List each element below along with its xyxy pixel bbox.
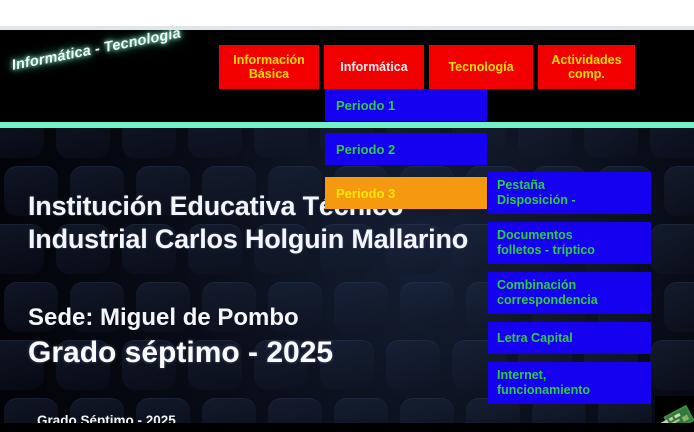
dropdown-item-periodo-2[interactable]: Periodo 2 (325, 133, 487, 165)
site-brand-logo: Informática - Tecnología (10, 30, 219, 74)
grade-footnote: Grado Séptimo - 2025 (37, 413, 176, 423)
dropdown-periodos: Periodo 1Periodo 2Periodo 3 (325, 89, 487, 221)
keyboard-key-shape (202, 398, 256, 423)
keyboard-key-shape (0, 128, 44, 158)
keyboard-key-shape (518, 128, 572, 158)
keyboard-key-shape (268, 398, 322, 423)
keyboard-key-shape (188, 128, 242, 158)
keyboard-key-shape (400, 398, 454, 423)
keyboard-key-shape (254, 128, 308, 158)
submenu-item-combinacion-correspondencia[interactable]: Combinación correspondencia (488, 272, 651, 314)
site-shell: Institución Educativa Técnico Industrial… (0, 30, 694, 432)
keyboard-key-shape (650, 224, 694, 274)
browser-top-strip (0, 0, 694, 26)
keyboard-key-shape (334, 398, 388, 423)
submenu-item-letra-capital[interactable]: Letra Capital (488, 322, 651, 354)
dropdown-item-periodo-3[interactable]: Periodo 3 (325, 177, 487, 209)
keyboard-key-shape (664, 282, 694, 332)
menu-item-actividades-comp[interactable]: Actividades comp. (538, 45, 635, 89)
submenu-item-documentos-folletos[interactable]: Documentos folletos - tríptico (488, 222, 651, 264)
keyboard-key-shape (56, 128, 110, 158)
page-root: Institución Educativa Técnico Industrial… (0, 0, 694, 432)
grade-title: Grado séptimo - 2025 (28, 335, 498, 371)
keyboard-key-shape (650, 340, 694, 390)
page-bottom-bar (0, 423, 694, 432)
dropdown-item-periodo-1[interactable]: Periodo 1 (325, 89, 487, 121)
keyboard-key-shape (122, 128, 176, 158)
menu-item-tecnologia[interactable]: Tecnología (429, 45, 533, 89)
circuit-board-photo-icon (655, 396, 694, 423)
keyboard-key-shape (650, 128, 694, 158)
menu-item-informatica[interactable]: Informática (324, 45, 424, 89)
keyboard-key-shape (584, 128, 638, 158)
menu-item-informacion-basica[interactable]: Información Básica (219, 45, 319, 89)
submenu-item-internet-funcionamiento[interactable]: Internet, funcionamiento (488, 362, 651, 404)
dropdown-informatica-submenu: Pestaña Disposición -Documentos folletos… (488, 172, 651, 412)
submenu-item-pestana-disposicion[interactable]: Pestaña Disposición - (488, 172, 651, 214)
campus-subtitle: Sede: Miguel de Pombo (28, 303, 498, 333)
main-menu: Información BásicaInformáticaTecnologíaA… (219, 45, 635, 89)
keyboard-key-shape (664, 166, 694, 216)
